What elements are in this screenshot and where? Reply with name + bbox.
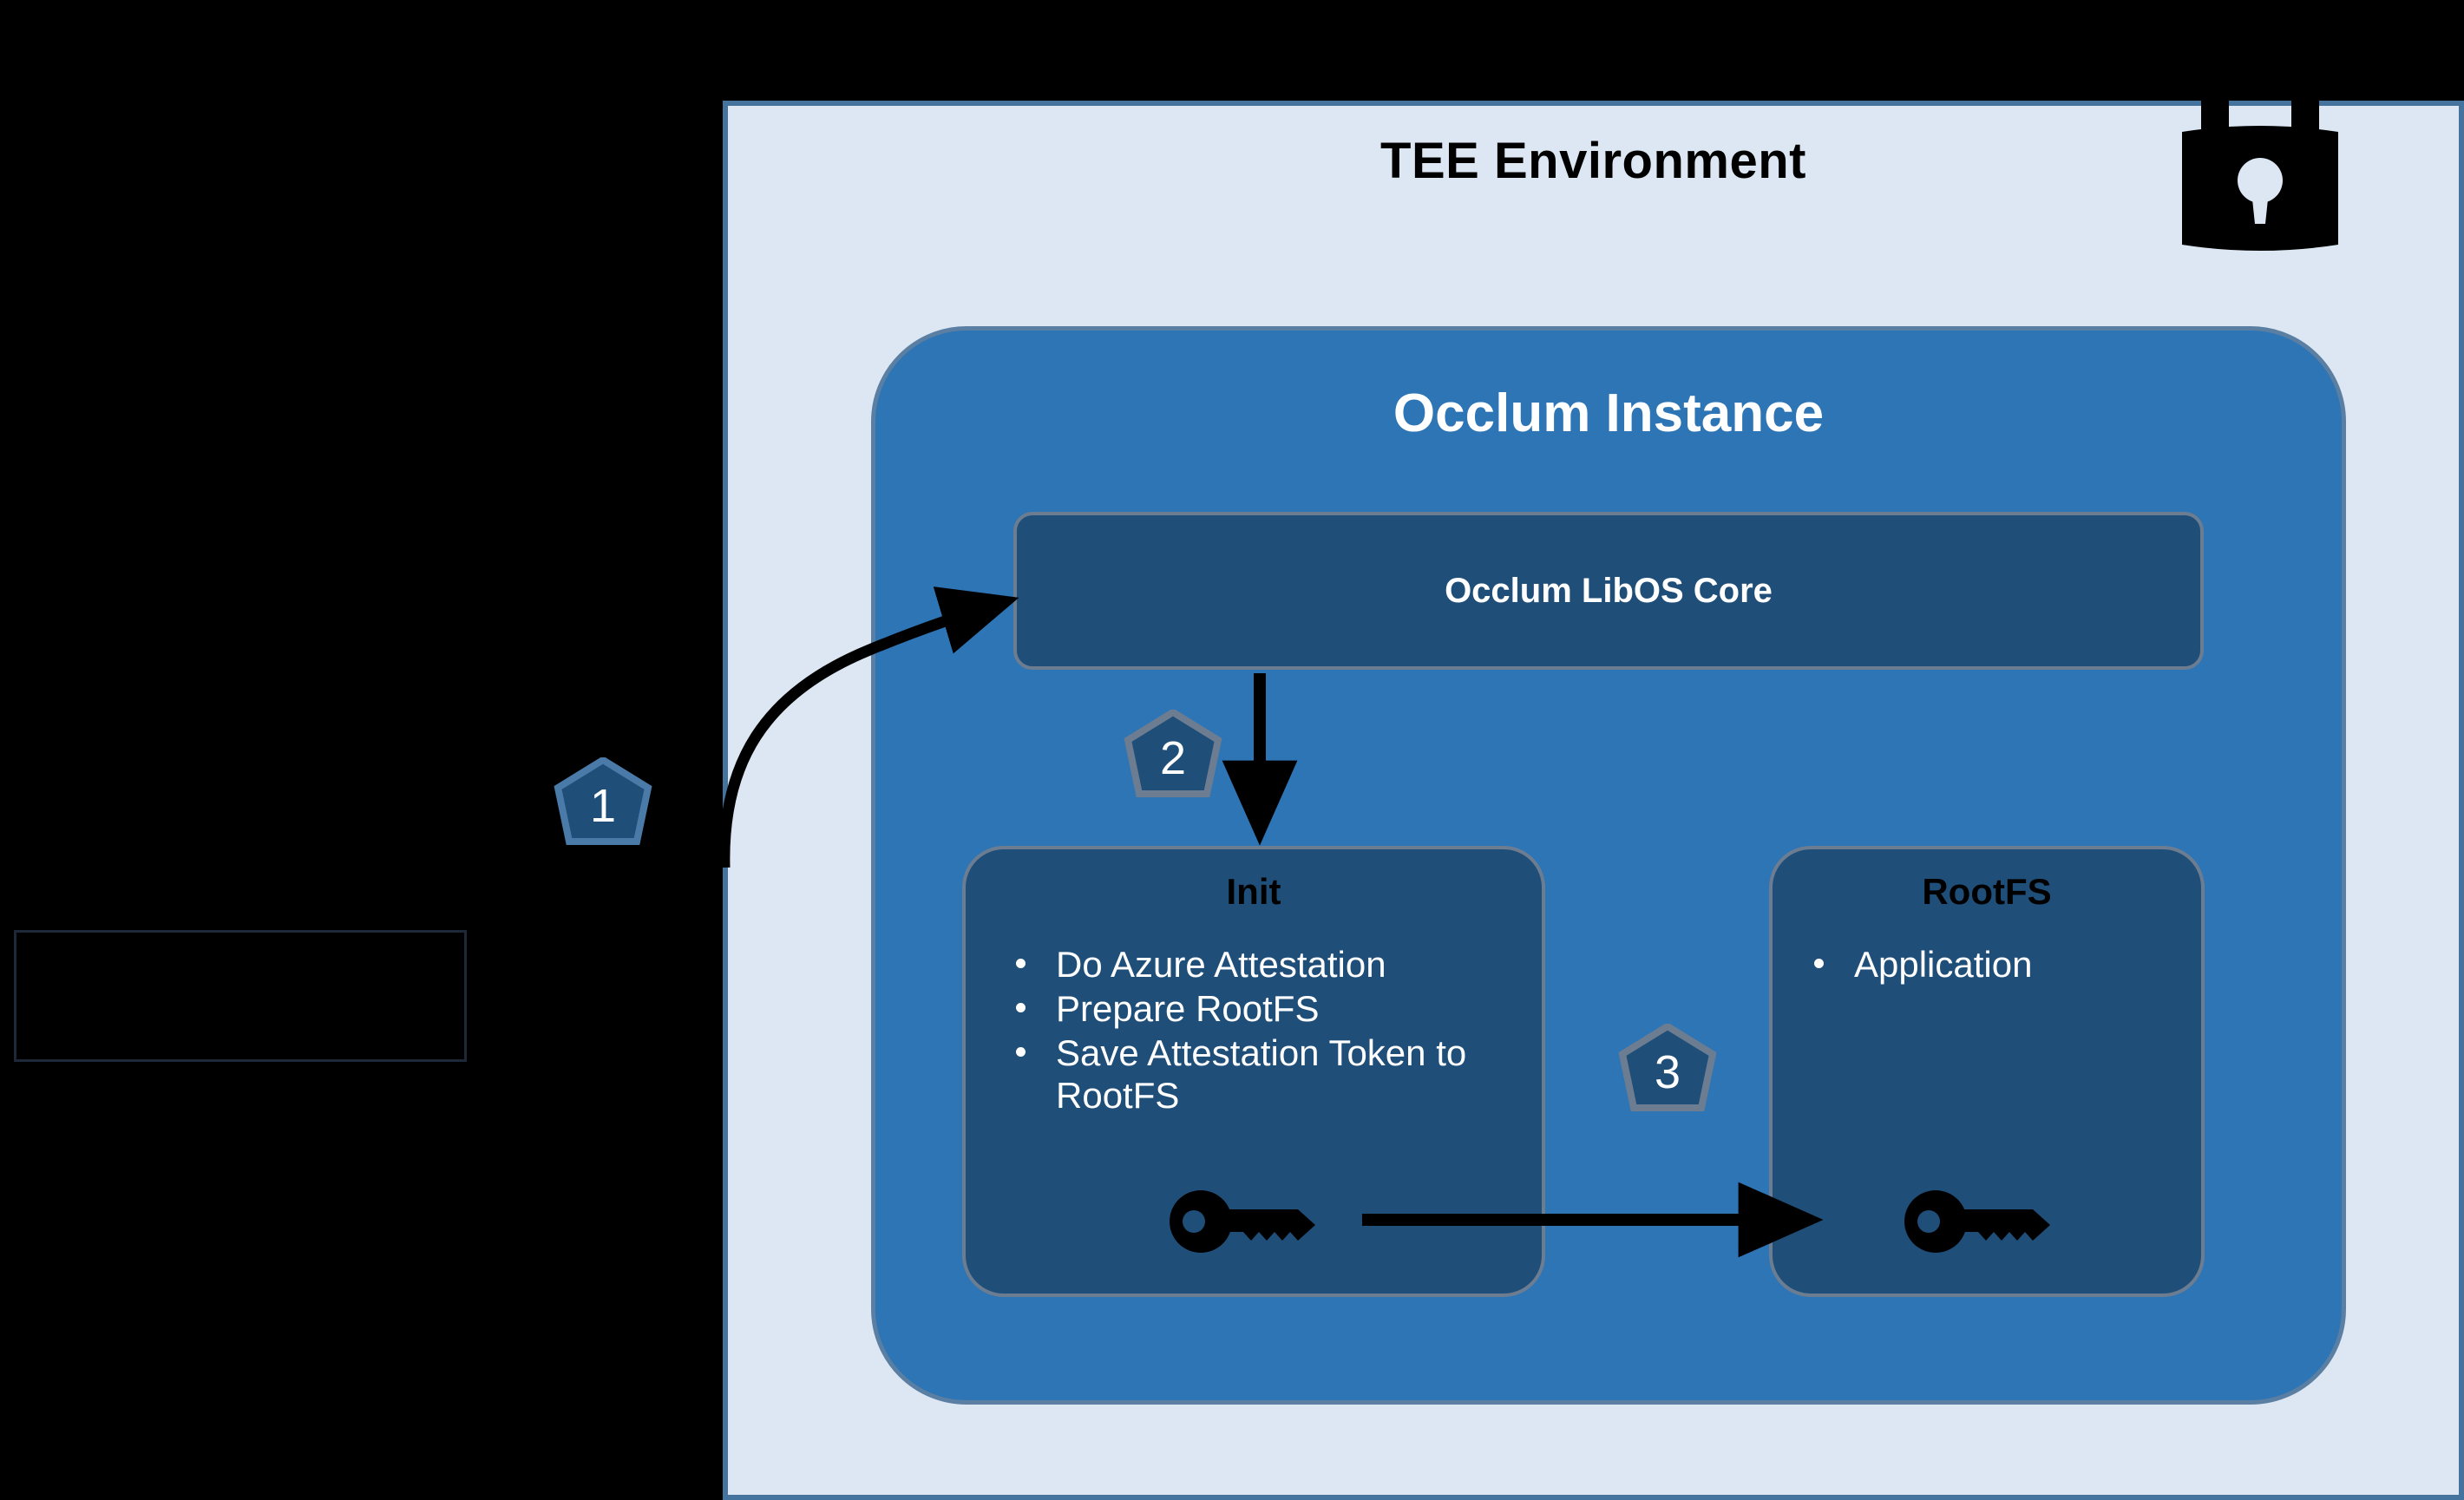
bullet-dot bbox=[1016, 1003, 1026, 1012]
step-badge-2: 2 bbox=[1121, 710, 1225, 807]
step-badge-3: 3 bbox=[1615, 1024, 1720, 1121]
init-card-title: Init bbox=[966, 871, 1542, 913]
bullet-dot bbox=[1814, 959, 1824, 968]
list-item: Application bbox=[1804, 943, 2185, 986]
key-icon bbox=[1170, 1190, 1315, 1253]
rootfs-card-title: RootFS bbox=[1773, 871, 2201, 913]
occlum-libos-core-box: Occlum LibOS Core bbox=[1013, 512, 2204, 670]
occlum-libos-core-label: Occlum LibOS Core bbox=[1445, 572, 1773, 611]
list-item: Prepare RootFS bbox=[1006, 987, 1526, 1030]
tee-environment-title: TEE Environment bbox=[728, 132, 2459, 190]
rootfs-bullet-list: Application bbox=[1804, 943, 2185, 987]
rootfs-bullet-1: Application bbox=[1854, 944, 2032, 985]
step-badge-1: 1 bbox=[551, 757, 655, 855]
diagram-canvas: TEE Environment Occlum Instance Occlum L… bbox=[0, 0, 2464, 1500]
list-item: Save Attestation Token to RootFS bbox=[1006, 1032, 1526, 1117]
bullet-dot bbox=[1016, 959, 1026, 968]
init-bullet-list: Do Azure Attestation Prepare RootFS Save… bbox=[1006, 943, 1526, 1119]
init-bullet-2: Prepare RootFS bbox=[1056, 988, 1319, 1029]
list-item: Do Azure Attestation bbox=[1006, 943, 1526, 986]
init-bullet-3: Save Attestation Token to RootFS bbox=[1056, 1032, 1466, 1116]
bullet-dot bbox=[1016, 1047, 1026, 1057]
placeholder-box bbox=[14, 930, 467, 1062]
key-icon bbox=[1904, 1190, 2050, 1253]
step-badge-2-label: 2 bbox=[1121, 710, 1225, 807]
step-badge-3-label: 3 bbox=[1615, 1024, 1720, 1121]
init-bullet-1: Do Azure Attestation bbox=[1056, 944, 1386, 985]
step-badge-1-label: 1 bbox=[551, 757, 655, 855]
occlum-instance-title: Occlum Instance bbox=[875, 383, 2342, 444]
